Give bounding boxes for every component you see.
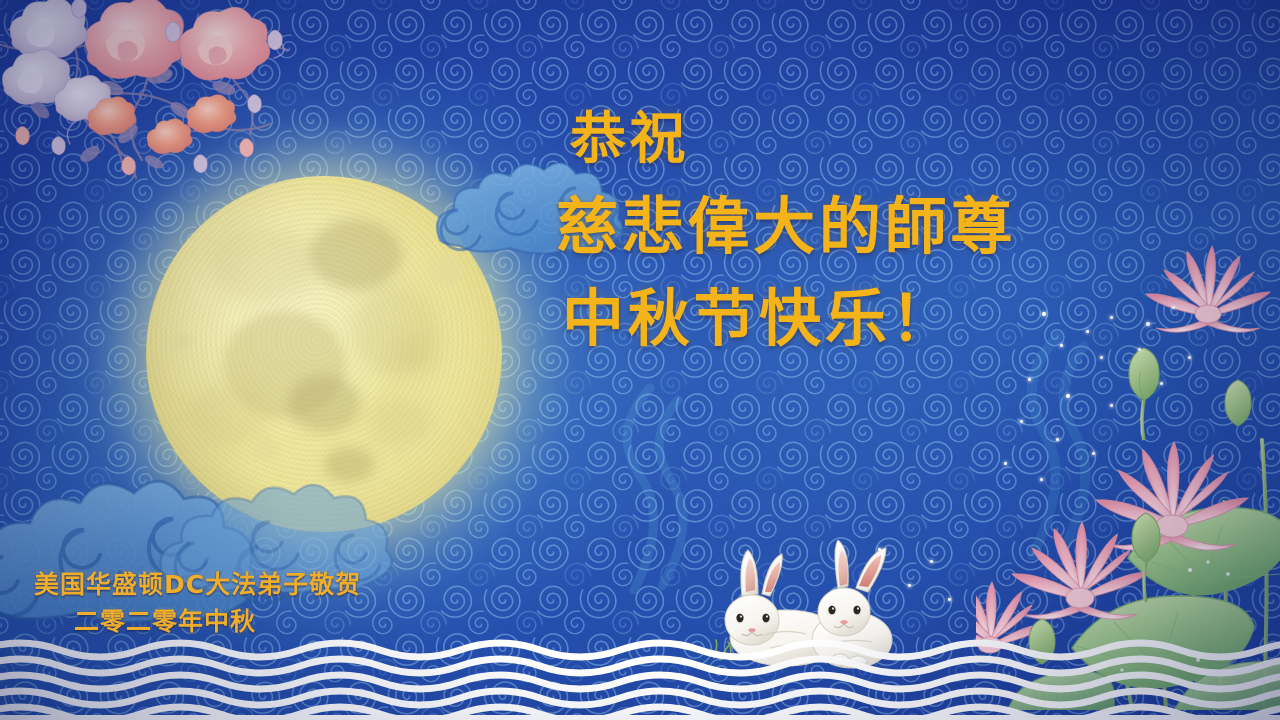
rose-icon <box>0 0 314 182</box>
moon-limb-shading <box>146 176 502 532</box>
greeting-text-block: 恭祝 慈悲偉大的師尊 中秋节快乐！ <box>556 112 1156 350</box>
signature-text-block: 美国华盛顿DC大法弟子敬贺 二零二零年中秋 <box>34 572 454 634</box>
greeting-line-1: 恭祝 <box>570 112 1156 168</box>
greeting-line-3: 中秋节快乐！ <box>562 288 1156 350</box>
signature-line-2: 二零二零年中秋 <box>74 609 454 634</box>
star-icon <box>948 598 951 601</box>
moon-icon <box>146 176 502 532</box>
signature-line-1: 美国华盛顿DC大法弟子敬贺 <box>34 572 454 597</box>
greeting-line-2: 慈悲偉大的師尊 <box>556 196 1156 258</box>
greeting-card: 恭祝 慈悲偉大的師尊 中秋节快乐！ 美国华盛顿DC大法弟子敬贺 二零二零年中秋 <box>0 0 1280 720</box>
wave-icon <box>0 636 1280 720</box>
star-icon <box>930 560 933 563</box>
